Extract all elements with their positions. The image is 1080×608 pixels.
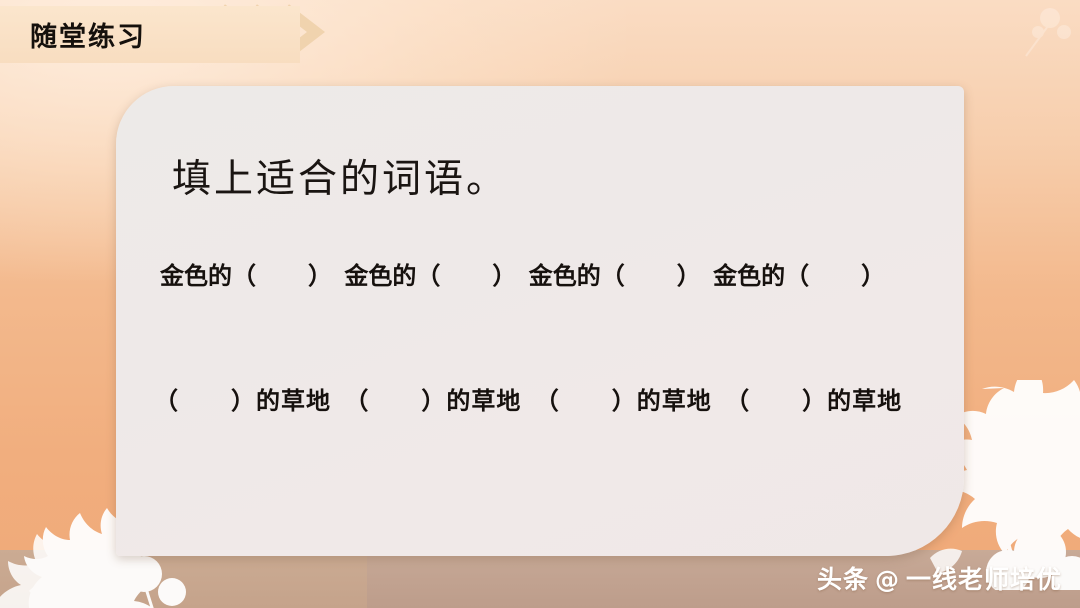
exercise-prefix: 金色的 — [529, 262, 601, 290]
content-card-inner: 填上适合的词语。 金色的（ ） 金色的（ ） 金色的（ ） 金色的（ ） （ ）… — [116, 86, 964, 556]
exercise-prefix: 金色的 — [713, 262, 785, 290]
paren-close: ） — [677, 262, 701, 290]
exercise-item: （ ）的草地 — [344, 387, 521, 415]
paren-open: （ — [232, 262, 256, 290]
watermark-account: 一线老师培优 — [906, 560, 1062, 596]
exercise-suffix: 的草地 — [827, 387, 902, 415]
exercise-row-1: 金色的（ ） 金色的（ ） 金色的（ ） 金色的（ ） — [160, 256, 889, 291]
exercise-item: 金色的（ ） — [713, 262, 885, 290]
exercise-item: 金色的（ ） — [160, 262, 332, 290]
paren-open: （ — [154, 387, 179, 415]
paren-close: ） — [861, 262, 885, 290]
blank-slot[interactable] — [560, 387, 612, 415]
blank-slot[interactable] — [440, 262, 492, 290]
paren-open: （ — [535, 387, 560, 415]
slide-canvas: 随堂练习 填上适合的词语。 金色的（ ） 金色的（ ） 金色的（ ） 金色的（ … — [0, 0, 1080, 608]
page-title: 随堂练习 — [30, 15, 146, 54]
exercise-suffix: 的草地 — [637, 387, 712, 415]
paren-close: ） — [231, 387, 256, 415]
exercise-prefix: 金色的 — [160, 262, 232, 290]
paren-close: ） — [802, 387, 827, 415]
instruction-heading: 填上适合的词语。 — [172, 148, 508, 204]
exercise-suffix: 的草地 — [446, 387, 521, 415]
watermark: 头条 @ 一线老师培优 — [817, 560, 1062, 596]
paren-open: （ — [601, 262, 625, 290]
blank-slot[interactable] — [809, 262, 861, 290]
exercise-prefix: 金色的 — [344, 262, 416, 290]
paren-close: ） — [492, 262, 516, 290]
paren-open: （ — [344, 387, 369, 415]
blank-slot[interactable] — [369, 387, 421, 415]
blank-slot[interactable] — [750, 387, 802, 415]
watermark-source: 头条 — [817, 560, 869, 596]
blank-slot[interactable] — [256, 262, 308, 290]
blank-slot[interactable] — [625, 262, 677, 290]
exercise-item: 金色的（ ） — [344, 262, 516, 290]
exercise-item: （ ）的草地 — [154, 387, 331, 415]
paren-close: ） — [612, 387, 637, 415]
blank-slot[interactable] — [179, 387, 231, 415]
section-title-banner: 随堂练习 — [0, 6, 300, 63]
exercise-row-2: （ ）的草地 （ ）的草地 （ ）的草地 （ ）的草地 — [154, 381, 906, 416]
exercise-suffix: 的草地 — [256, 387, 331, 415]
paren-close: ） — [421, 387, 446, 415]
exercise-item: （ ）的草地 — [535, 387, 712, 415]
background-bottom-band-left — [0, 550, 367, 608]
paren-close: ） — [308, 262, 332, 290]
paren-open: （ — [785, 262, 809, 290]
content-card: 填上适合的词语。 金色的（ ） 金色的（ ） 金色的（ ） 金色的（ ） （ ）… — [116, 86, 964, 556]
exercise-item: （ ）的草地 — [725, 387, 902, 415]
paren-open: （ — [416, 262, 440, 290]
paren-open: （ — [725, 387, 750, 415]
watermark-at-symbol: @ — [875, 566, 900, 594]
exercise-item: 金色的（ ） — [529, 262, 701, 290]
